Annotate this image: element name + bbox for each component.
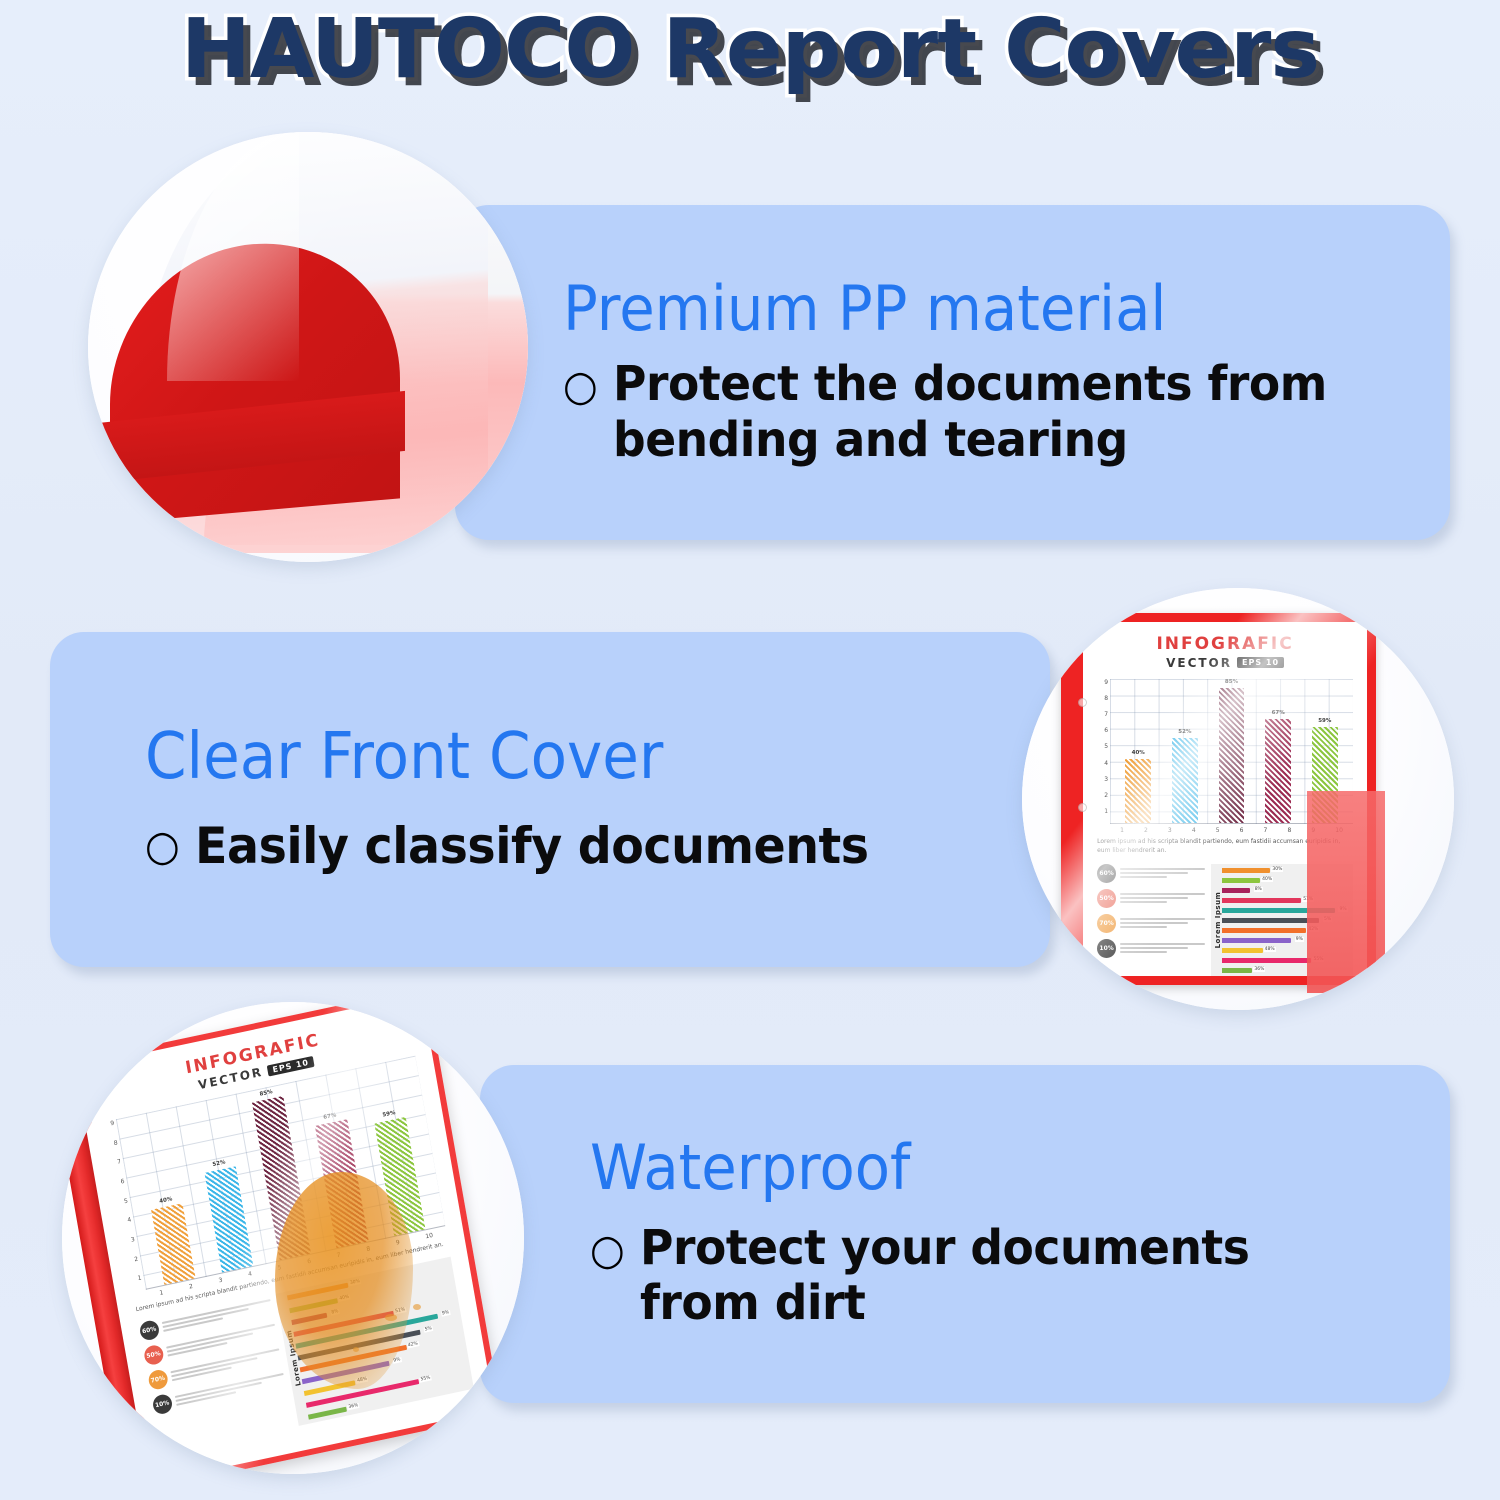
horizontal-bar: 42% <box>1222 928 1307 933</box>
horizontal-bar: 9% <box>1222 938 1291 943</box>
horizontal-bar: 8% <box>291 1312 327 1324</box>
feature-panel-clear-front-cover: Clear Front Cover ○ Easily classify docu… <box>50 632 1050 967</box>
y-tick-label: 2 <box>134 1255 139 1263</box>
chart-bar: 40% <box>151 1203 196 1285</box>
horizontal-bar: 36% <box>308 1407 348 1420</box>
infographic-tag: EPS 10 <box>1237 657 1284 668</box>
x-tick-label: 8 <box>366 1246 371 1254</box>
horizontal-bar: 51% <box>1222 898 1302 903</box>
horizontal-bar: 8% <box>1222 888 1250 893</box>
horizontal-bar: 48% <box>1222 948 1263 953</box>
hbar-value-label: 40% <box>1261 877 1273 882</box>
percentage-badge: 70% <box>1097 914 1116 933</box>
hbar-value-label: 55% <box>420 1375 433 1382</box>
y-tick-label: 6 <box>120 1178 125 1186</box>
percentage-badge-list: 60%50%70%10% <box>1097 864 1205 976</box>
badge-text-lines <box>1120 893 1205 905</box>
percentage-badge: 10% <box>152 1393 174 1416</box>
hbar-value-label: 30% <box>349 1279 362 1286</box>
hbar-value-label: 51% <box>394 1307 407 1314</box>
y-tick-label: 5 <box>1104 743 1108 750</box>
hbar-chart-label: Lorem Ipsum <box>1214 868 1222 972</box>
horizontal-bar: 40% <box>1222 878 1261 883</box>
percentage-badge-row: 50% <box>1097 889 1205 908</box>
hbar-value-label: 9% <box>1295 937 1304 942</box>
percentage-badge: 60% <box>139 1319 161 1342</box>
chart-bar: 85% <box>252 1096 312 1261</box>
percentage-badge-row: 60% <box>1097 864 1205 883</box>
horizontal-bar: 55% <box>1222 958 1312 963</box>
percentage-badge: 70% <box>147 1369 169 1392</box>
percentage-badge: 10% <box>1097 939 1116 958</box>
feature-bullet-text: Protect your documents from dirt <box>640 1221 1369 1332</box>
feature-bullet: ○ Protect your documents from dirt <box>590 1221 1369 1332</box>
x-tick-label: 5 <box>1216 827 1220 834</box>
percentage-badge-row: 10% <box>1097 939 1205 958</box>
y-tick-label: 9 <box>110 1120 115 1128</box>
x-tick-label: 3 <box>1168 827 1172 834</box>
feature-bullet-text: Easily classify documents <box>195 817 869 875</box>
chart-bar: 67% <box>315 1119 368 1248</box>
horizontal-bar: 30% <box>1222 868 1271 873</box>
infographic-page: HAUTOCO Report Covers Premium PP materia… <box>0 0 1500 1500</box>
horizontal-bar-chart: Lorem Ipsum 30%40%8%51%9%5%42%9%48%55%36… <box>275 1257 473 1426</box>
bar-value-label: 59% <box>382 1109 396 1118</box>
bar-value-label: 67% <box>323 1112 337 1121</box>
feature-bullet: ○ Protect the documents from bending and… <box>563 357 1368 468</box>
hbar-value-label: 48% <box>1264 947 1276 952</box>
y-tick-label: 1 <box>1104 808 1108 815</box>
y-tick-label: 7 <box>1104 711 1108 718</box>
y-tick-label: 2 <box>1104 792 1108 799</box>
x-tick-label: 4 <box>1192 827 1196 834</box>
waterproof-spill-photo: INFOGRAFIC VECTOR EPS 10 987654321 40%52… <box>62 1002 524 1474</box>
bar-value-label: 40% <box>159 1196 173 1205</box>
x-tick-label: 2 <box>189 1283 194 1291</box>
bar-value-label: 85% <box>259 1089 273 1098</box>
horizontal-bar: 36% <box>1222 968 1253 973</box>
x-tick-label: 7 <box>337 1252 342 1260</box>
chart-bar: 52% <box>1172 738 1198 823</box>
hbar-value-label: 8% <box>330 1308 340 1315</box>
percentage-badge: 50% <box>143 1344 165 1367</box>
chart-bar: 59% <box>374 1116 426 1236</box>
y-tick-label: 8 <box>113 1139 118 1147</box>
infographic-subtitle-row: VECTOR EPS 10 <box>1097 656 1353 670</box>
hbar-list: 30%40%8%51%9%5%42%9%48%55%36% <box>287 1262 470 1420</box>
horizontal-bar: 55% <box>306 1379 420 1408</box>
y-tick-label: 4 <box>1104 760 1108 767</box>
hbar-value-label: 48% <box>356 1376 369 1383</box>
hbar-value-label: 40% <box>338 1294 351 1301</box>
percentage-badge: 50% <box>1097 889 1116 908</box>
bar-value-label: 40% <box>1132 750 1145 756</box>
x-tick-label: 3 <box>218 1277 223 1285</box>
feature-bullet-text: Protect the documents from bending and t… <box>613 357 1368 468</box>
y-tick-label: 6 <box>1104 727 1108 734</box>
report-cover: INFOGRAFIC VECTOR EPS 10 987654321 40%52… <box>74 1002 502 1474</box>
y-tick-label: 3 <box>131 1236 136 1244</box>
y-tick-label: 9 <box>1104 679 1108 686</box>
hbar-value-label: 5% <box>424 1326 434 1333</box>
feature-heading: Clear Front Cover <box>145 724 931 791</box>
x-tick-label: 5 <box>277 1264 282 1272</box>
chart-bar: 85% <box>1219 688 1245 823</box>
x-tick-label: 10 <box>425 1232 434 1240</box>
feature-panel-waterproof: Waterproof ○ Protect your documents from… <box>480 1065 1450 1403</box>
y-tick-label: 1 <box>137 1275 142 1283</box>
y-tick-label: 3 <box>1104 776 1108 783</box>
horizontal-bar: 5% <box>1222 918 1320 923</box>
hbar-value-label: 30% <box>1271 867 1283 872</box>
bending-red-cover-photo <box>88 132 528 562</box>
clear-front-cover-photo: INFOGRAFIC VECTOR EPS 10 987654321 40%52… <box>1022 588 1454 1010</box>
x-tick-label: 4 <box>248 1271 253 1279</box>
infographic-subtitle: VECTOR <box>1166 656 1232 670</box>
y-axis-ticks: 987654321 <box>1097 679 1108 824</box>
page-title: HAUTOCO Report Covers <box>0 2 1500 97</box>
x-tick-label: 1 <box>159 1290 164 1298</box>
bar-value-label: 67% <box>1272 710 1285 716</box>
bullet-circle-icon: ○ <box>590 1221 625 1275</box>
bullet-circle-icon: ○ <box>145 817 180 871</box>
infographic-title: INFOGRAFIC <box>1097 634 1353 654</box>
bar-value-label: 52% <box>212 1159 226 1168</box>
chart-bar: 52% <box>204 1166 253 1273</box>
hbar-value-label: 9% <box>441 1310 451 1317</box>
y-tick-label: 4 <box>127 1217 132 1225</box>
y-tick-label: 5 <box>124 1197 129 1205</box>
infographic-document: INFOGRAFIC VECTOR EPS 10 987654321 40%52… <box>75 1002 495 1474</box>
x-tick-label: 6 <box>307 1258 312 1266</box>
percentage-badge-list: 60%50%70%10% <box>139 1296 293 1456</box>
bar-value-label: 59% <box>1318 718 1331 724</box>
feature-bullet: ○ Easily classify documents <box>145 817 948 875</box>
badge-text-lines <box>1120 868 1205 880</box>
cover-pocket <box>1307 791 1385 994</box>
tilted-report-cover: INFOGRAFIC VECTOR EPS 10 987654321 40%52… <box>74 1002 502 1474</box>
x-tick-label: 6 <box>1240 827 1244 834</box>
percentage-badge-row: 70% <box>1097 914 1205 933</box>
y-tick-label: 7 <box>117 1158 122 1166</box>
feature-panel-premium-pp-material: Premium PP material ○ Protect the docume… <box>455 205 1450 540</box>
bar-value-label: 52% <box>1178 729 1191 735</box>
hbar-value-label: 8% <box>1254 887 1263 892</box>
bar-value-label: 85% <box>1225 679 1238 685</box>
x-tick-label: 2 <box>1144 827 1148 834</box>
x-tick-label: 7 <box>1264 827 1268 834</box>
badge-text-lines <box>1120 943 1205 955</box>
bullet-circle-icon: ○ <box>563 357 598 411</box>
hbar-value-label: 36% <box>347 1403 360 1410</box>
feature-heading: Premium PP material <box>563 277 1351 341</box>
badge-text-lines <box>1120 918 1205 930</box>
hbar-value-label: 42% <box>407 1341 420 1348</box>
x-tick-label: 8 <box>1287 827 1291 834</box>
hbar-value-label: 9% <box>392 1357 402 1364</box>
chart-bar: 40% <box>1125 759 1151 823</box>
feature-heading: Waterproof <box>590 1136 1353 1200</box>
y-tick-label: 8 <box>1104 695 1108 702</box>
chart-bar: 67% <box>1265 719 1291 823</box>
x-tick-label: 1 <box>1120 827 1124 834</box>
x-tick-label: 9 <box>396 1239 401 1247</box>
punch-hole-icon <box>1078 698 1087 707</box>
percentage-badge: 60% <box>1097 864 1116 883</box>
hbar-value-label: 36% <box>1253 967 1265 972</box>
